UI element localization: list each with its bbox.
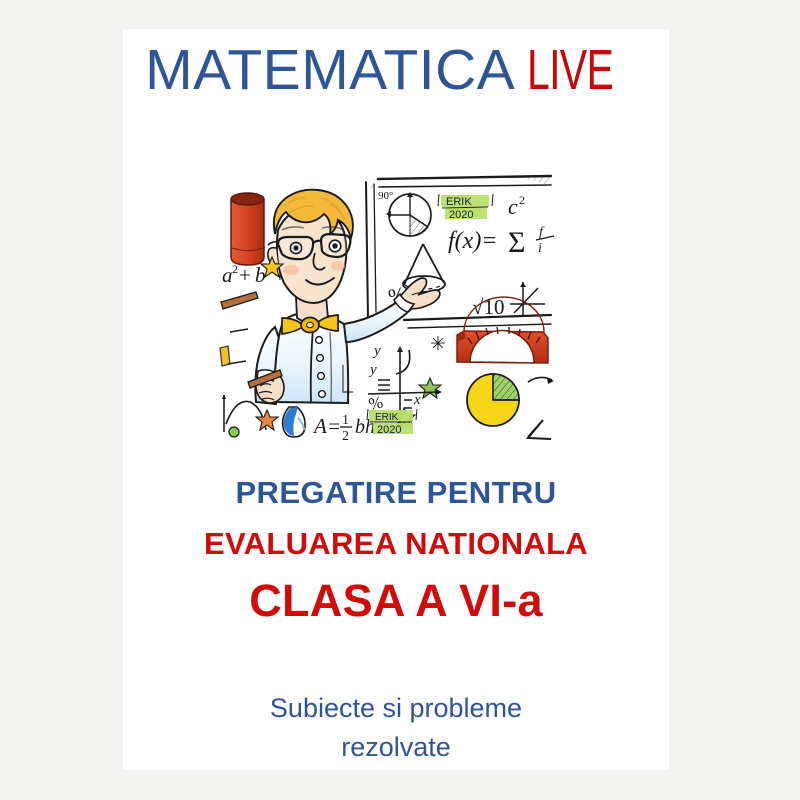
headline-line-3: CLASA A VI-a (123, 574, 669, 628)
svg-text:+: + (239, 263, 251, 287)
svg-text:1: 1 (342, 413, 349, 428)
headline-line-1: PREGATIRE PENTRU (123, 474, 669, 513)
svg-text:f(x)=: f(x)= (448, 228, 498, 254)
subtitle-line-1: Subiecte si probleme (123, 689, 669, 728)
svg-text:ERIK: ERIK (446, 196, 472, 208)
svg-text:2: 2 (519, 193, 525, 207)
poster-sheet: MATEMATICALIVE (123, 29, 669, 770)
svg-text:i: i (538, 241, 542, 256)
brand-title: MATEMATICALIVE (123, 42, 669, 99)
cover-illustration: a 2 + b 2 + c 2 90° (218, 152, 563, 444)
svg-text:90°: 90° (378, 190, 393, 202)
cylinder-shape (231, 193, 264, 265)
svg-text:Σ: Σ (508, 226, 525, 259)
svg-text:c: c (508, 194, 518, 219)
svg-text:a: a (222, 263, 233, 287)
headline-line-2: EVALUAREA NATIONALA (123, 525, 669, 564)
svg-text:y: y (368, 362, 377, 378)
pie-chart-icon (467, 374, 519, 426)
brand-accent-text: LIVE (527, 42, 613, 99)
svg-text:2: 2 (342, 429, 349, 444)
egg-shape (283, 407, 306, 437)
subtitle-line-2: rezolvate (123, 728, 669, 767)
signature-bottom: ERIK 2020 (367, 409, 417, 436)
signature-top: ERIK 2020 (438, 194, 493, 221)
svg-text:2020: 2020 (377, 424, 401, 436)
brand-primary-text: MATEMATICA (145, 38, 515, 102)
svg-text:ERIK: ERIK (375, 412, 399, 423)
svg-text:x: x (413, 392, 421, 408)
svg-text:A=: A= (312, 414, 341, 438)
headline-block: PREGATIRE PENTRU EVALUAREA NATIONALA CLA… (123, 474, 669, 628)
subtitle-block: Subiecte si probleme rezolvate (123, 689, 669, 767)
svg-text:2: 2 (232, 262, 238, 276)
asterisk-symbol: ✳ (430, 334, 446, 355)
svg-text:2020: 2020 (449, 209, 473, 221)
svg-text:y: y (372, 343, 381, 359)
